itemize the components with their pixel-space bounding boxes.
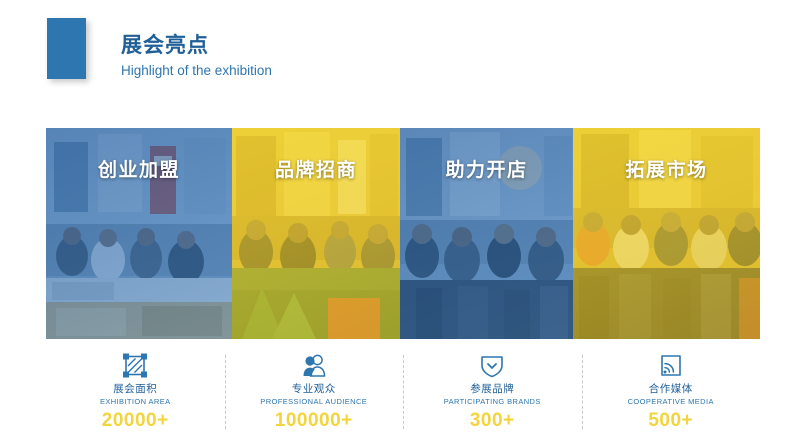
header-accent-bar: [47, 18, 86, 79]
stats-row: 展会面积 EXHIBITION AREA 20000+ 专业观众 PROFESS…: [46, 352, 760, 438]
area-icon: [122, 352, 148, 378]
highlight-gallery: 创业加盟: [46, 128, 760, 339]
audience-icon: [301, 352, 327, 378]
page-subtitle: Highlight of the exhibition: [121, 61, 272, 81]
stat-label-cn: 专业观众: [292, 382, 336, 396]
stat-item-participating-brands: 参展品牌 PARTICIPATING BRANDS 300+: [403, 352, 582, 438]
stat-value: 20000+: [102, 409, 169, 433]
gallery-panel-label-4: 拓展市场: [625, 155, 707, 182]
stat-item-exhibition-area: 展会面积 EXHIBITION AREA 20000+: [46, 352, 225, 438]
stat-label-en: EXHIBITION AREA: [100, 396, 171, 408]
stat-label-en: PARTICIPATING BRANDS: [444, 396, 541, 408]
gallery-panel-label-3: 助力开店: [445, 155, 527, 182]
gallery-panel-label-2: 品牌招商: [275, 155, 357, 182]
gallery-panel-label-1: 创业加盟: [98, 155, 180, 182]
page-title: 展会亮点: [121, 33, 272, 59]
stat-label-cn: 合作媒体: [649, 382, 693, 396]
stat-value: 500+: [648, 409, 693, 433]
stat-label-en: PROFESSIONAL AUDIENCE: [260, 396, 367, 408]
stat-label-cn: 展会面积: [113, 382, 157, 396]
stat-value: 100000+: [275, 409, 353, 433]
stat-item-professional-audience: 专业观众 PROFESSIONAL AUDIENCE 100000+: [225, 352, 404, 438]
media-icon: [658, 352, 684, 378]
stat-item-cooperative-media: 合作媒体 COOPERATIVE MEDIA 500+: [582, 352, 761, 438]
stat-value: 300+: [470, 409, 515, 433]
gallery-panel-2[interactable]: 品牌招商: [232, 128, 400, 339]
gallery-panel-1[interactable]: 创业加盟: [46, 128, 232, 339]
stat-label-cn: 参展品牌: [470, 382, 514, 396]
page-header: 展会亮点 Highlight of the exhibition: [0, 0, 800, 110]
gallery-panel-4[interactable]: 拓展市场: [573, 128, 760, 339]
gallery-panel-3[interactable]: 助力开店: [400, 128, 573, 339]
brand-icon: [478, 352, 506, 378]
header-text-group: 展会亮点 Highlight of the exhibition: [121, 33, 272, 81]
stat-label-en: COOPERATIVE MEDIA: [628, 396, 714, 408]
